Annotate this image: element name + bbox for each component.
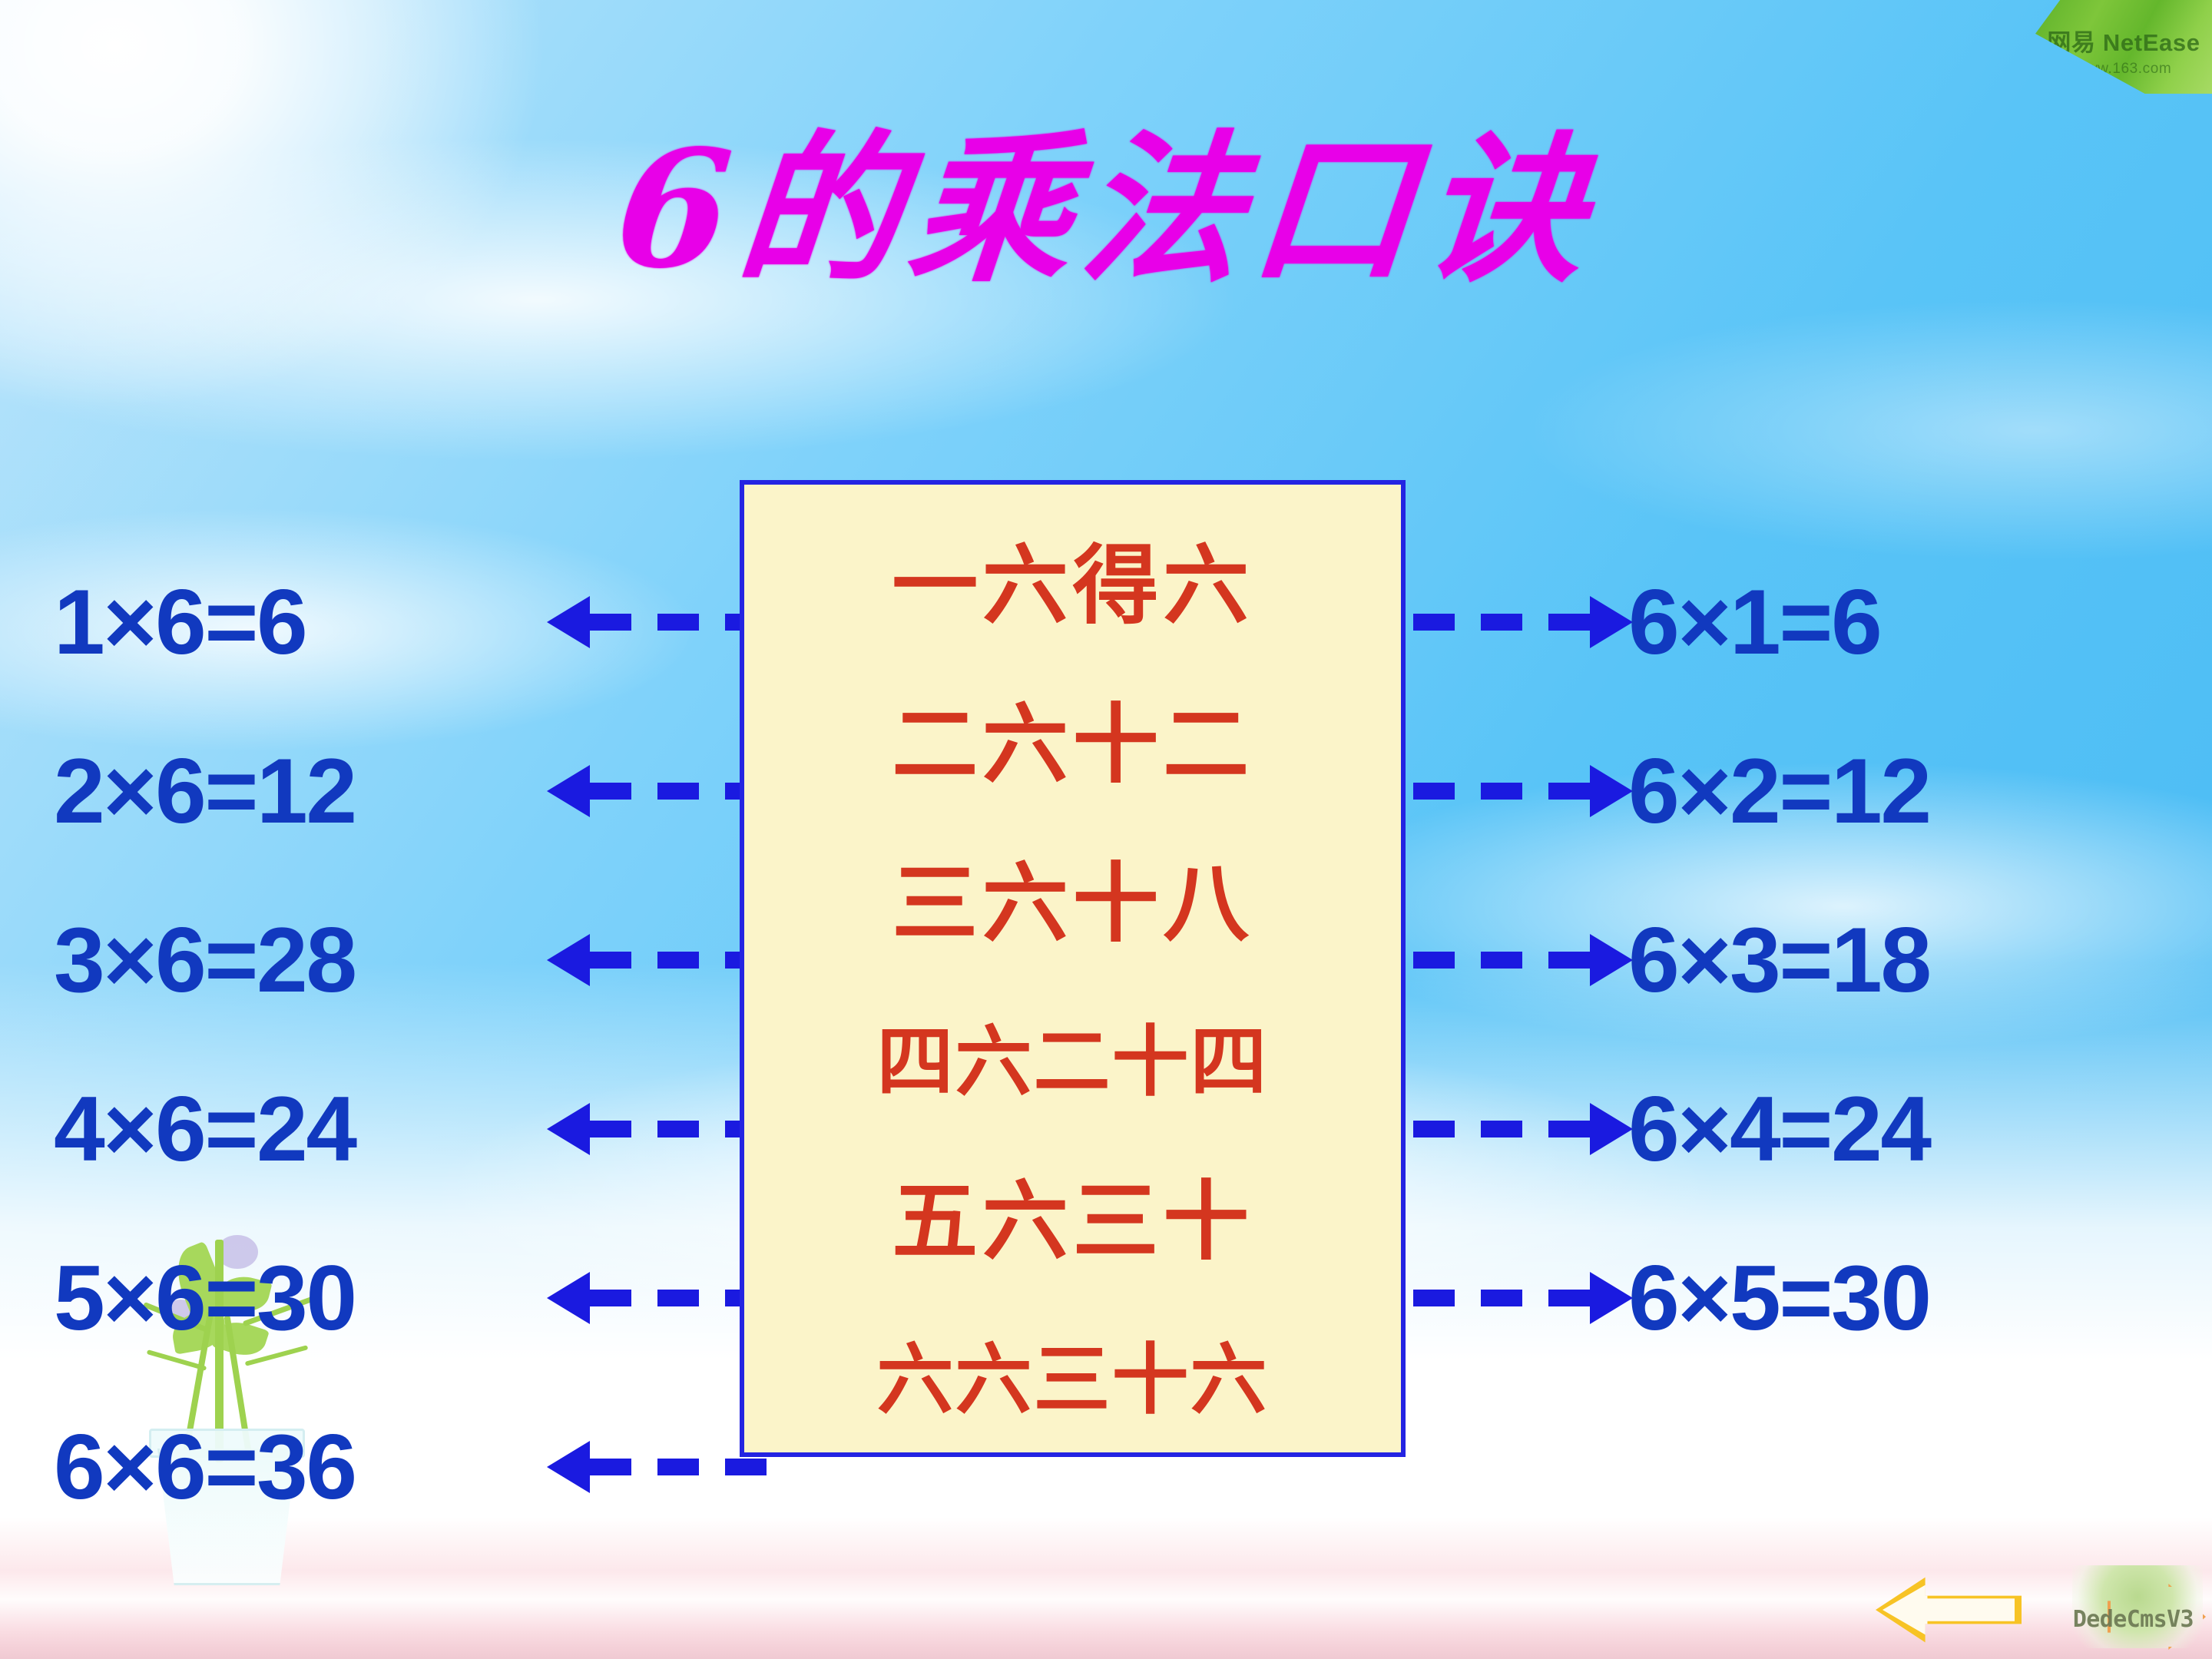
left-arrow-row-5	[547, 1214, 739, 1382]
dashed-arrow-left-icon	[547, 1458, 739, 1476]
left-equation-2: 2×6=12	[54, 745, 356, 837]
left-equation-row: 4×6=24	[54, 1045, 545, 1214]
left-equation-1: 1×6=6	[54, 576, 306, 668]
right-arrow-row-3	[1413, 876, 1628, 1045]
right-arrow-row-2	[1413, 707, 1628, 876]
right-equation-2: 6×2=12	[1628, 745, 1930, 837]
right-arrow-row-4	[1413, 1045, 1628, 1214]
netease-watermark: 网易 NetEase www.163.com	[2035, 0, 2212, 94]
dashed-arrow-right-icon	[1413, 1289, 1628, 1307]
slide-canvas: 6的乘法口诀 1×6=6 2×6=12 3×6=28 4×6=24 5×6=30…	[0, 0, 2212, 1659]
right-arrow-row-1	[1413, 538, 1628, 707]
right-equation-row: 6×5=30	[1628, 1214, 2166, 1382]
verse-5: 五六三十	[892, 1152, 1253, 1277]
right-equation-row: 6×2=12	[1628, 707, 2166, 876]
right-equation-row: 6×3=18	[1628, 876, 2166, 1045]
right-equation-row: 6×4=24	[1628, 1045, 2166, 1214]
netease-watermark-label: 网易 NetEase	[2047, 23, 2200, 58]
right-equation-1: 6×1=6	[1628, 576, 1880, 668]
left-equation-3: 3×6=28	[54, 914, 356, 1006]
left-arrow-row-6	[547, 1382, 739, 1551]
verse-4: 四六二十四	[877, 999, 1269, 1111]
dashed-arrow-right-icon	[1413, 1120, 1628, 1138]
netease-watermark-url: www.163.com	[2076, 61, 2172, 78]
dashed-arrow-right-icon	[1413, 951, 1628, 969]
dashed-arrow-left-icon	[547, 1289, 739, 1307]
left-arrow-row-1	[547, 538, 739, 707]
page-title: 6的乘法口诀	[0, 123, 2212, 297]
right-arrow-row-5	[1413, 1214, 1628, 1382]
verse-row: 一六得六	[744, 498, 1401, 657]
dedecms-watermark-label: DedeCmsV3	[2073, 1606, 2194, 1633]
verse-3: 三六十八	[892, 834, 1253, 959]
verse-row: 六六三十六	[744, 1293, 1401, 1452]
verse-1: 一六得六	[892, 516, 1253, 641]
left-arrow-row-2	[547, 707, 739, 876]
dashed-arrow-right-icon	[1413, 613, 1628, 631]
dashed-arrow-left-icon	[547, 782, 739, 800]
left-arrow-row-4	[547, 1045, 739, 1214]
left-equation-column: 1×6=6 2×6=12 3×6=28 4×6=24 5×6=30 6×6=36	[54, 538, 545, 1551]
right-arrow-group	[1413, 538, 1628, 1382]
left-equation-row: 5×6=30	[54, 1214, 545, 1382]
verse-row: 二六十二	[744, 657, 1401, 816]
left-arrow-group	[547, 538, 739, 1551]
verse-6: 六六三十六	[877, 1317, 1269, 1429]
verse-row: 四六二十四	[744, 975, 1401, 1134]
dedecms-watermark: DedeCmsV3	[2029, 1564, 2206, 1653]
left-equation-row: 6×6=36	[54, 1382, 545, 1551]
dashed-arrow-right-icon	[1413, 782, 1628, 800]
right-equation-3: 6×3=18	[1628, 914, 1930, 1006]
right-equation-row: 6×1=6	[1628, 538, 2166, 707]
left-equation-row: 2×6=12	[54, 707, 545, 876]
left-equation-row: 1×6=6	[54, 538, 545, 707]
verse-2: 二六十二	[892, 675, 1253, 800]
right-equation-column: 6×1=6 6×2=12 6×3=18 6×4=24 6×5=30	[1628, 538, 2166, 1382]
left-arrow-row-3	[547, 876, 739, 1045]
mnemonic-verse-panel: 一六得六 二六十二 三六十八 四六二十四 五六三十 六六三十六	[740, 480, 1406, 1457]
dashed-arrow-left-icon	[547, 951, 739, 969]
left-equation-4: 4×6=24	[54, 1083, 356, 1175]
verse-row: 五六三十	[744, 1134, 1401, 1293]
dashed-arrow-left-icon	[547, 1120, 739, 1138]
left-equation-row: 3×6=28	[54, 876, 545, 1045]
right-equation-5: 6×5=30	[1628, 1252, 1930, 1344]
left-equation-6: 6×6=36	[54, 1421, 356, 1513]
left-equation-5: 5×6=30	[54, 1252, 356, 1344]
dashed-arrow-left-icon	[547, 613, 739, 631]
verse-row: 三六十八	[744, 816, 1401, 975]
right-equation-4: 6×4=24	[1628, 1083, 1930, 1175]
